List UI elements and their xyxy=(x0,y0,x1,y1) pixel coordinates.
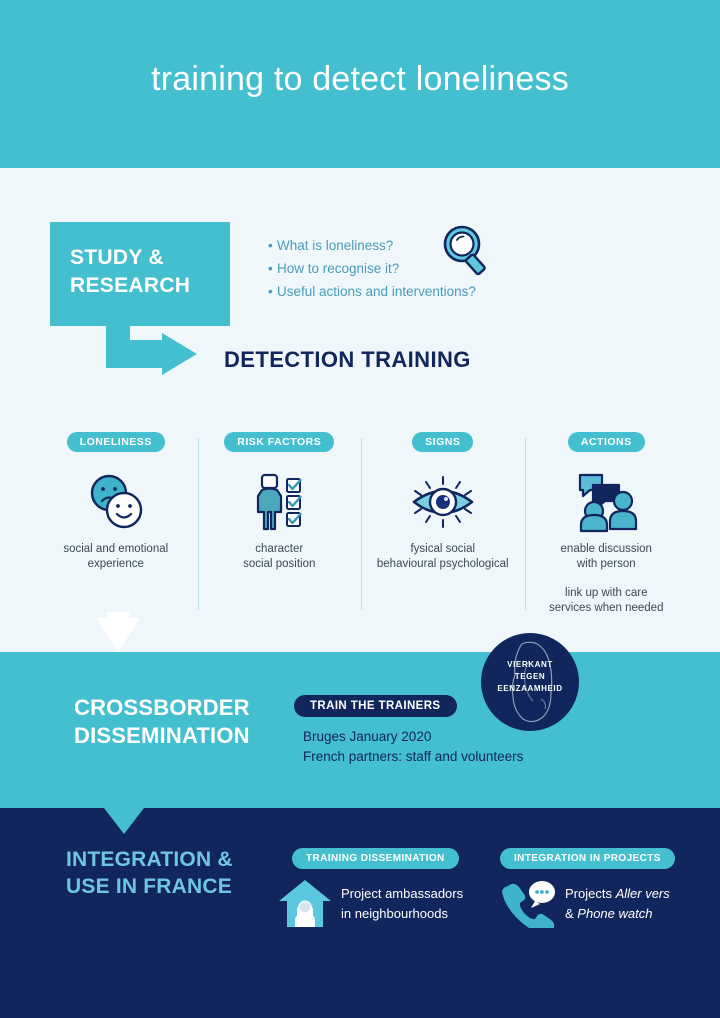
study-research-label: STUDY & RESEARCH xyxy=(70,244,230,300)
list-item: • What is lonelinеss? xyxy=(268,238,548,254)
caption-line2: social position xyxy=(198,557,362,572)
crossborder-title: CROSSBORDER DISSEMINATION xyxy=(74,694,294,750)
header-band: training to detect loneliness xyxy=(0,0,720,168)
caption-line2: behavioural psychological xyxy=(361,557,525,572)
caption-line2: with person xyxy=(525,557,689,572)
integration-title-line1: INTEGRATION & xyxy=(66,846,296,873)
integration-block2-line2: & Phone watch xyxy=(565,904,652,924)
pill-train-the-trainers: TRAIN THE TRAINERS xyxy=(294,695,457,717)
crossborder-detail-line1: Bruges January 2020 xyxy=(303,727,431,747)
bullet-text: What is lonelinеss? xyxy=(277,238,393,254)
column-risk-factors: RISK FACTORS character social position xyxy=(198,432,362,622)
pill-integration-in-projects: INTEGRATION IN PROJECTS xyxy=(500,848,675,869)
eye-icon xyxy=(361,466,525,538)
pill-loneliness: LONELINESS xyxy=(67,432,165,452)
column-loneliness: LONELINESS social and emotional experien… xyxy=(34,432,198,622)
two-people-talking-icon xyxy=(525,466,689,538)
vierkant-tegen-eenzaamheid-logo: VIERKANT TEGEN EENZAAMHEID xyxy=(481,633,579,731)
pill-risk-factors: RISK FACTORS xyxy=(224,432,334,452)
study-research-box: STUDY & RESEARCH xyxy=(50,222,230,326)
bullet-dot-icon: • xyxy=(268,238,277,254)
caption2-line1: link up with care xyxy=(525,586,689,601)
person-with-checklist-icon xyxy=(198,466,362,538)
bullet-dot-icon: • xyxy=(268,261,277,277)
house-with-person-icon xyxy=(277,877,333,934)
elbow-arrow-shaft xyxy=(106,340,164,368)
study-research-label-line2: RESEARCH xyxy=(70,272,230,300)
integration-title-line2: USE IN FRANCE xyxy=(66,873,296,900)
integration-block1-line1: Project ambassadors xyxy=(341,884,463,904)
caption-loneliness: social and emotional experience xyxy=(34,542,198,572)
column-signs: SIGNS xyxy=(361,432,525,622)
integration-block1-line2: in neighbourhoods xyxy=(341,904,448,924)
pill-training-dissemination: TRAINING DISSEMINATION xyxy=(292,848,459,869)
crossborder-detail-line2: French partners: staff and volunteers xyxy=(303,747,523,767)
caption-line2: experience xyxy=(34,557,198,572)
study-questions-list: • What is lonelinеss? • How to recognise… xyxy=(268,238,548,307)
caption-actions: enable discussion with person xyxy=(525,542,689,572)
caption-signs: fysical social behavioural psychological xyxy=(361,542,525,572)
detection-training-title: DETECTION TRAINING xyxy=(224,347,471,373)
caption-line1: enable discussion xyxy=(525,542,689,557)
phone-with-speech-bubble-icon xyxy=(502,878,560,933)
integration-block2-line1-em: Aller vers xyxy=(616,886,670,901)
logo-text-line1: VIERKANT xyxy=(481,659,579,671)
caption-line1: fysical social xyxy=(361,542,525,557)
bullet-text: How to recognise it? xyxy=(277,261,399,277)
logo-text: VIERKANT TEGEN EENZAAMHEID xyxy=(481,659,579,695)
magnifying-glass-icon xyxy=(436,222,494,280)
list-item: • Useful actions and interventions? xyxy=(268,284,548,300)
down-arrow-white-icon xyxy=(96,618,140,652)
elbow-arrow-head-icon xyxy=(162,333,197,375)
caption-risk-factors: character social position xyxy=(198,542,362,572)
pill-actions: ACTIONS xyxy=(568,432,645,452)
caption-actions-secondary: link up with care services when needed xyxy=(525,586,689,616)
logo-text-line2: TEGEN xyxy=(481,671,579,683)
caption-line1: social and emotional xyxy=(34,542,198,557)
caption-line1: character xyxy=(198,542,362,557)
sad-and-happy-faces-icon xyxy=(34,466,198,538)
crossborder-title-line1: CROSSBORDER xyxy=(74,694,294,722)
caption2-line2: services when needed xyxy=(525,601,689,616)
integration-block2-line2-em: Phone watch xyxy=(577,906,652,921)
integration-block2-line2-pre: & xyxy=(565,906,577,921)
page-title: training to detect loneliness xyxy=(0,60,720,99)
bullet-text: Useful actions and interventions? xyxy=(277,284,476,300)
integration-block2-line1: Projects Aller vers xyxy=(565,884,670,904)
logo-text-line3: EENZAAMHEID xyxy=(481,683,579,695)
list-item: • How to recognise it? xyxy=(268,261,548,277)
bullet-dot-icon: • xyxy=(268,284,277,300)
pill-signs: SIGNS xyxy=(412,432,473,452)
four-pillars-row: LONELINESS social and emotional experien… xyxy=(34,432,688,622)
down-arrow-teal-icon xyxy=(104,808,144,834)
infographic-page: training to detect loneliness STUDY & RE… xyxy=(0,0,720,1018)
study-research-label-line1: STUDY & xyxy=(70,244,230,272)
integration-block2-line1-pre: Projects xyxy=(565,886,616,901)
column-actions: ACTIONS enable discussion with person li… xyxy=(525,432,689,622)
integration-title: INTEGRATION & USE IN FRANCE xyxy=(66,846,296,900)
crossborder-title-line2: DISSEMINATION xyxy=(74,722,294,750)
